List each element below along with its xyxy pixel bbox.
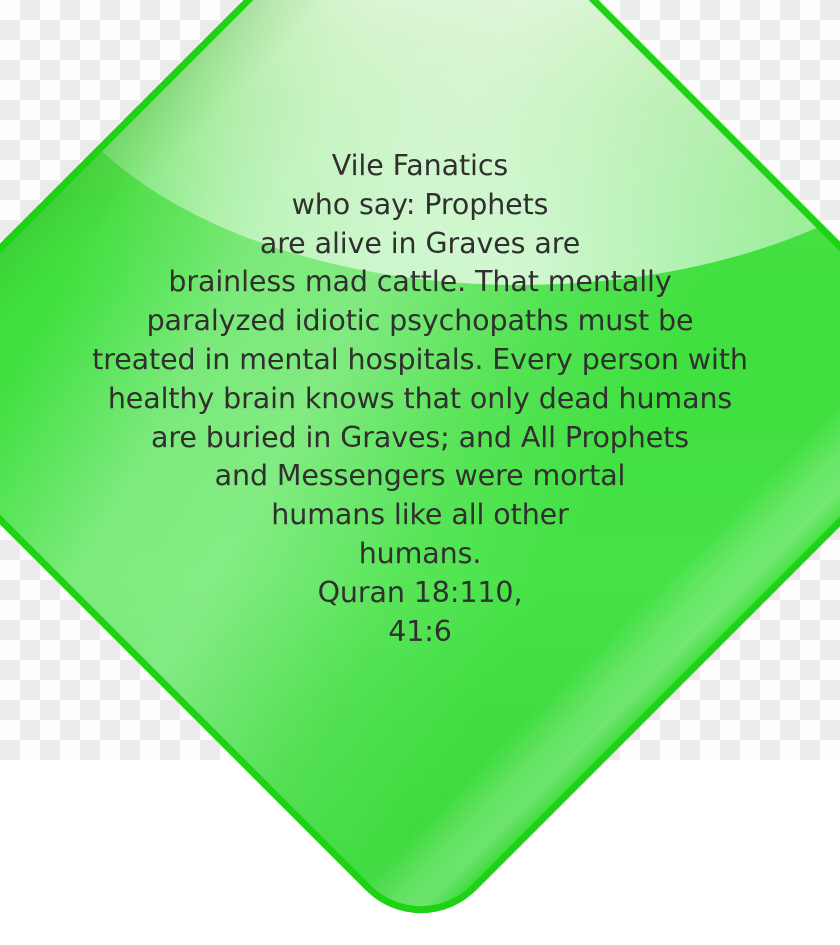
transparency-canvas: Vile Fanatics who say: Prophets are aliv… — [0, 0, 840, 760]
badge-gloss-highlight — [30, 0, 840, 285]
badge-bevel-shade-left — [0, 0, 733, 687]
badge-bevel-highlight-right — [126, 97, 840, 945]
badge-base-gradient — [0, 0, 840, 945]
green-diamond-badge — [0, 0, 840, 945]
badge-diagonal-sheen — [0, 0, 840, 945]
